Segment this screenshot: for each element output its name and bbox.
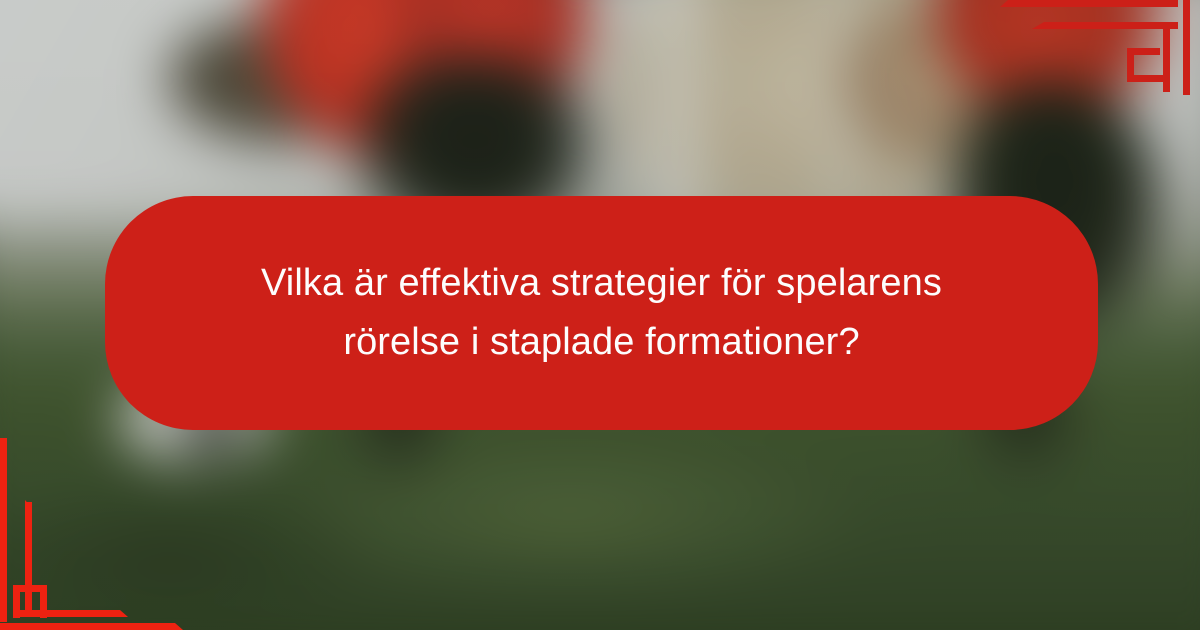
social-card-canvas: Vilka är effektiva strategier för spelar… xyxy=(0,0,1200,630)
question-card[interactable]: Vilka är effektiva strategier för spelar… xyxy=(105,196,1098,430)
question-title: Vilka är effektiva strategier för spelar… xyxy=(222,254,982,372)
